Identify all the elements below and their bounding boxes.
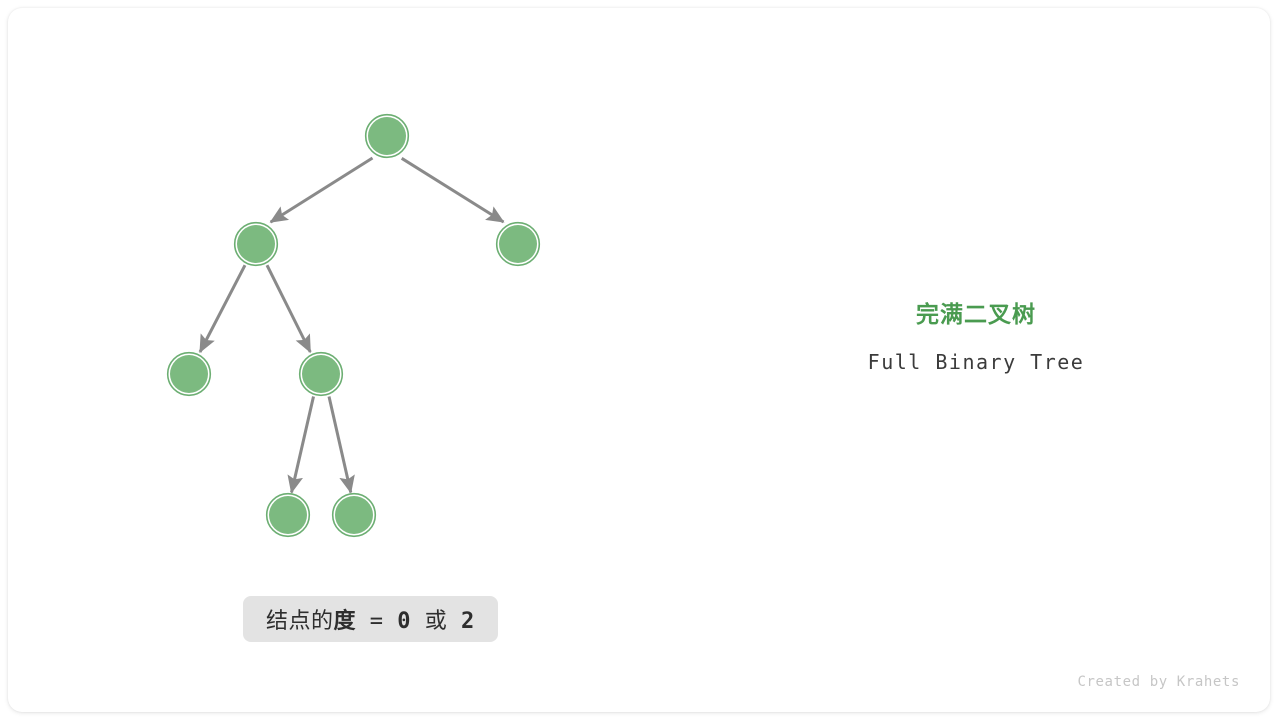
tree-edge: [271, 158, 373, 222]
tree-edge: [200, 265, 245, 352]
legend-block: 完满二叉树 Full Binary Tree: [776, 300, 1176, 375]
diagram-title-en: Full Binary Tree: [776, 330, 1176, 375]
tree-edge: [402, 158, 504, 222]
caption-segment: =: [356, 609, 397, 634]
caption-segment-bold: 0: [397, 609, 411, 634]
diagram-canvas: 完满二叉树 Full Binary Tree 结点的度 = 0 或 2 Crea…: [0, 0, 1280, 720]
caption-segment: 或: [411, 609, 461, 634]
credit-text: Created by Krahets: [1077, 674, 1240, 690]
caption-segment-bold: 度: [334, 609, 357, 634]
tree-node-leaf-right[interactable]: [333, 494, 376, 537]
diagram-card: 完满二叉树 Full Binary Tree 结点的度 = 0 或 2 Crea…: [8, 8, 1270, 712]
diagram-title-cn: 完满二叉树: [776, 300, 1176, 330]
tree-node-leaf-left[interactable]: [267, 494, 310, 537]
tree-edge: [267, 265, 310, 352]
caption-segment: 结点的: [266, 609, 334, 634]
tree-node-right[interactable]: [497, 223, 540, 266]
tree-node-left-left[interactable]: [168, 353, 211, 396]
tree-node-root[interactable]: [366, 115, 409, 158]
tree-nodes: [168, 115, 540, 537]
caption-segment-bold: 2: [461, 609, 475, 634]
tree-edge: [329, 397, 351, 493]
tree-edge: [292, 397, 314, 493]
tree-node-left-right[interactable]: [300, 353, 343, 396]
tree-edges: [200, 158, 504, 493]
caption-text: 结点的度 = 0 或 2: [266, 603, 475, 635]
tree-node-left[interactable]: [235, 223, 278, 266]
caption-badge: 结点的度 = 0 或 2: [243, 596, 498, 642]
